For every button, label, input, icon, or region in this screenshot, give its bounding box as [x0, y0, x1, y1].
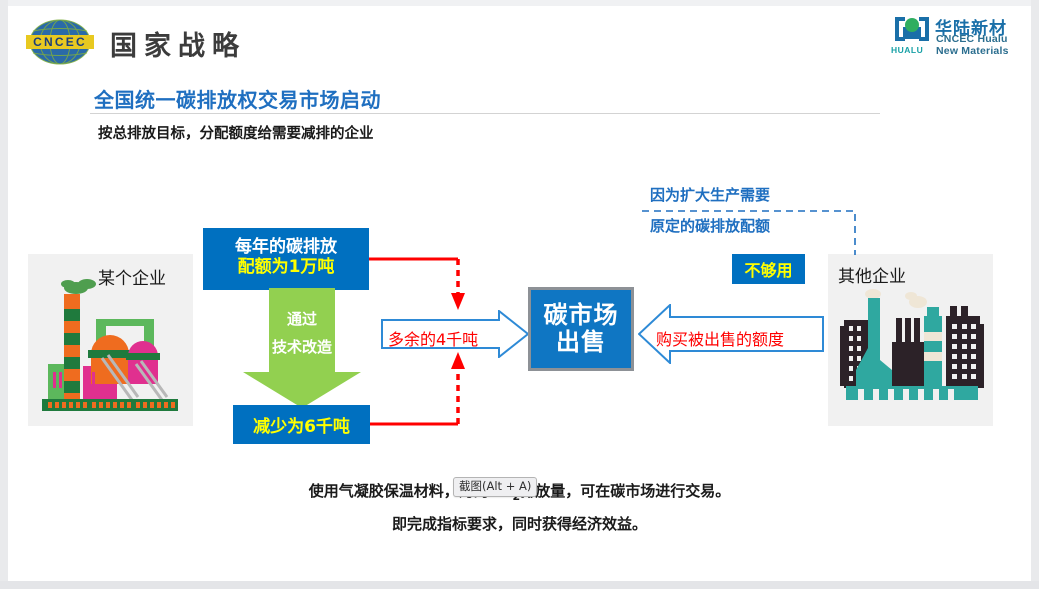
right-company-label: 其他企业 [838, 262, 906, 287]
annual-carbon-quota-box: 每年的碳排放 配额为1万吨 [203, 228, 369, 290]
reduce-box-line1: 减少为6千吨 [253, 412, 350, 437]
left-company-label: 某个企业 [98, 264, 166, 289]
market-box-line2: 出售 [556, 329, 606, 356]
hualu-english-line2: New Materials [936, 45, 1009, 57]
quota-box-line1: 每年的碳排放 [235, 239, 337, 257]
quota-box-line2: 配额为1万吨 [238, 257, 335, 278]
technology-upgrade-arrow: 通过 技术改造 [243, 288, 361, 408]
window-edge-bottom [0, 581, 1039, 589]
reduced-emission-box: 减少为6千吨 [233, 405, 370, 444]
annotation-line2: 原定的碳排放配额 [650, 215, 770, 236]
market-box-line1: 碳市场 [544, 302, 619, 329]
not-enough-line1: 不够用 [744, 257, 792, 281]
buy-callout-label: 购买被出售的额度 [656, 326, 784, 350]
green-arrow-line1: 通过 [243, 308, 361, 329]
green-arrow-line2: 技术改造 [243, 336, 361, 357]
hualu-english-line1: CNCEC Hualu [936, 33, 1008, 45]
caption-part-3: 排放量，可在碳市场进行交易。 [520, 482, 730, 500]
hualu-logo: HUALU 华陆新材 CNCEC Hualu New Materials [891, 14, 1017, 60]
slide-canvas: CNCEC 国家战略 HUALU 华陆新材 CNCEC Hualu New Ma… [0, 0, 1039, 589]
surplus-callout-label: 多余的4千吨 [388, 326, 478, 350]
brand-title: 国家战略 [110, 24, 246, 63]
svg-text:CNCEC: CNCEC [33, 35, 87, 49]
slide-title: 全国统一碳排放权交易市场启动 [94, 84, 381, 113]
tooltip-label: 截图 [459, 479, 482, 493]
tooltip-shortcut: (Alt + A) [482, 479, 531, 493]
window-edge-top [0, 0, 1039, 6]
screenshot-shortcut-tooltip[interactable]: 截图(Alt + A) [453, 477, 537, 497]
cncec-logo: CNCEC [22, 16, 98, 68]
hualu-mark-label: HUALU [891, 45, 923, 55]
not-enough-box: 不够用 [732, 254, 805, 284]
caption-line-2: 即完成指标要求，同时获得经济效益。 [0, 513, 1039, 534]
carbon-market-sell-box: 碳市场 出售 [528, 287, 634, 371]
title-divider [90, 113, 880, 114]
annotation-line1: 因为扩大生产需要 [650, 184, 770, 205]
slide-subtitle: 按总排放目标，分配额度给需要减排的企业 [98, 122, 374, 143]
caption-part-1: 使用气凝胶保温材料，为 [309, 482, 474, 500]
